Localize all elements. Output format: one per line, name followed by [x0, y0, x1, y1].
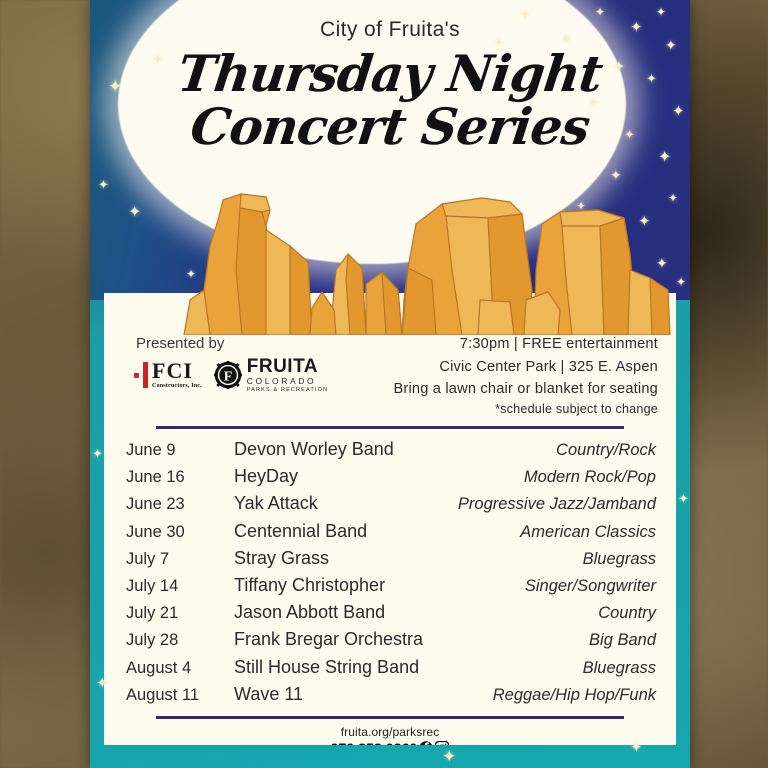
sponsor-logos: FCI Constructors, Inc. [134, 357, 356, 393]
instagram-icon[interactable] [435, 741, 449, 745]
schedule-date: July 7 [126, 550, 234, 569]
event-details: Thursdays June 9 - August 11 7:30pm | FR… [328, 311, 658, 420]
star-icon: ✦ [638, 214, 651, 229]
divider-bottom [156, 716, 624, 719]
star-icon: ✦ [602, 236, 613, 249]
fruita-state-label: COLORADO [247, 377, 328, 386]
schedule-row: August 4 Still House String Band Bluegra… [126, 657, 656, 684]
fci-wordmark: FCI [152, 360, 202, 382]
fruita-parks-rec-logo: F FRUITA COLORADO PARKS & RECREATION [214, 357, 328, 393]
event-detail-disclaimer: *schedule subject to change [328, 400, 658, 419]
schedule-band: Devon Worley Band [234, 439, 556, 460]
contact-row: 970.858.0360 [104, 740, 676, 745]
star-icon: ✦ [128, 205, 141, 221]
schedule-date: August 11 [126, 686, 234, 705]
schedule-band: HeyDay [234, 466, 524, 487]
presented-by-block: Presented by FCI Constructors, Inc. [126, 335, 356, 393]
event-detail-dates: Thursdays June 9 - August 11 [328, 311, 658, 333]
divider-top [156, 426, 624, 429]
star-icon: ✦ [96, 676, 109, 691]
star-icon: ✦ [92, 447, 103, 460]
schedule-date: June 30 [126, 523, 234, 542]
star-icon: ✦ [668, 192, 678, 204]
schedule-row: July 21 Jason Abbott Band Country [126, 602, 656, 629]
schedule-genre: Country/Rock [556, 441, 656, 460]
concert-series-poster: ✦ ✦ ✦ ✦ ✦ ✦ ✦ ✦ ✦ ✦ ✦ ✦ ✦ ✦ ✦ ✦ ✦ ✦ ✦ ✦ … [90, 0, 690, 768]
star-icon: ✦ [610, 168, 622, 182]
schedule-row: July 14 Tiffany Christopher Singer/Songw… [126, 575, 656, 602]
fruita-gear-f-icon: F [214, 361, 242, 389]
schedule-band: Stray Grass [234, 548, 583, 569]
poster-content-panel: Presented by FCI Constructors, Inc. [104, 293, 676, 745]
star-icon: ✦ [186, 268, 196, 280]
schedule-genre: Singer/Songwriter [525, 577, 656, 596]
schedule-band: Centennial Band [234, 521, 520, 542]
schedule-date: June 23 [126, 495, 234, 514]
schedule-band: Yak Attack [234, 493, 458, 514]
phone-number[interactable]: 970.858.0360 [331, 740, 418, 745]
schedule-genre: American Classics [520, 523, 656, 542]
poster-title-line-1: Thursday Night [90, 44, 690, 103]
fruita-department-label: PARKS & RECREATION [247, 388, 328, 394]
schedule-date: August 4 [126, 659, 234, 678]
fci-bar-icon [143, 362, 148, 388]
schedule-row: June 16 HeyDay Modern Rock/Pop [126, 466, 656, 493]
presented-by-label: Presented by [136, 335, 356, 352]
fci-tagline: Constructors, Inc. [152, 383, 202, 389]
schedule-genre: Bluegrass [583, 659, 656, 678]
star-icon: ✦ [98, 178, 109, 191]
schedule-row: June 9 Devon Worley Band Country/Rock [126, 439, 656, 466]
schedule-row: July 7 Stray Grass Bluegrass [126, 548, 656, 575]
schedule-genre: Bluegrass [583, 550, 656, 569]
info-row: Presented by FCI Constructors, Inc. [104, 293, 676, 419]
event-detail-seating: Bring a lawn chair or blanket for seatin… [328, 378, 658, 400]
star-icon: ✦ [595, 6, 605, 18]
fci-constructors-logo: FCI Constructors, Inc. [134, 360, 202, 389]
fci-dot-icon [134, 373, 139, 378]
schedule-genre: Reggae/Hip Hop/Funk [493, 686, 656, 705]
schedule-band: Jason Abbott Band [234, 602, 598, 623]
schedule-date: July 28 [126, 631, 234, 650]
schedule-date: June 16 [126, 468, 234, 487]
facebook-icon[interactable] [419, 741, 433, 745]
schedule-genre: Big Band [589, 631, 656, 650]
schedule-date: June 9 [126, 441, 234, 460]
concert-schedule-list: June 9 Devon Worley Band Country/Rock Ju… [126, 439, 656, 711]
star-icon: ✦ [656, 256, 668, 270]
schedule-row: June 23 Yak Attack Progressive Jazz/Jamb… [126, 493, 656, 520]
event-detail-time: 7:30pm | FREE entertainment [328, 333, 658, 355]
svg-text:F: F [223, 370, 232, 385]
schedule-genre: Modern Rock/Pop [524, 468, 656, 487]
fruita-wordmark: FRUITA [247, 357, 328, 376]
star-icon: ✦ [630, 740, 643, 755]
schedule-row: July 28 Frank Bregar Orchestra Big Band [126, 629, 656, 656]
star-icon: ✦ [678, 492, 689, 505]
schedule-band: Frank Bregar Orchestra [234, 629, 589, 650]
star-icon: ✦ [545, 252, 556, 265]
schedule-band: Still House String Band [234, 657, 583, 678]
schedule-genre: Country [598, 604, 656, 623]
poster-footer: fruita.org/parksrec 970.858.0360 [104, 725, 676, 745]
schedule-band: Wave 11 [234, 684, 493, 705]
event-detail-location: Civic Center Park | 325 E. Aspen [328, 356, 658, 378]
star-icon: ✦ [676, 276, 686, 288]
schedule-date: July 21 [126, 604, 234, 623]
schedule-row: June 30 Centennial Band American Classic… [126, 521, 656, 548]
poster-kicker: City of Fruita's [90, 18, 690, 42]
star-icon: ✦ [442, 748, 456, 765]
poster-title-line-2: Concert Series [90, 97, 690, 156]
star-icon: ✦ [576, 200, 586, 212]
website-link[interactable]: fruita.org/parksrec [104, 725, 676, 739]
schedule-genre: Progressive Jazz/Jamband [458, 495, 656, 514]
star-icon: ✦ [656, 6, 666, 18]
poster-title-block: City of Fruita's Thursday Night Concert … [90, 18, 690, 156]
schedule-date: July 14 [126, 577, 234, 596]
schedule-band: Tiffany Christopher [234, 575, 525, 596]
schedule-row: August 11 Wave 11 Reggae/Hip Hop/Funk [126, 684, 656, 711]
